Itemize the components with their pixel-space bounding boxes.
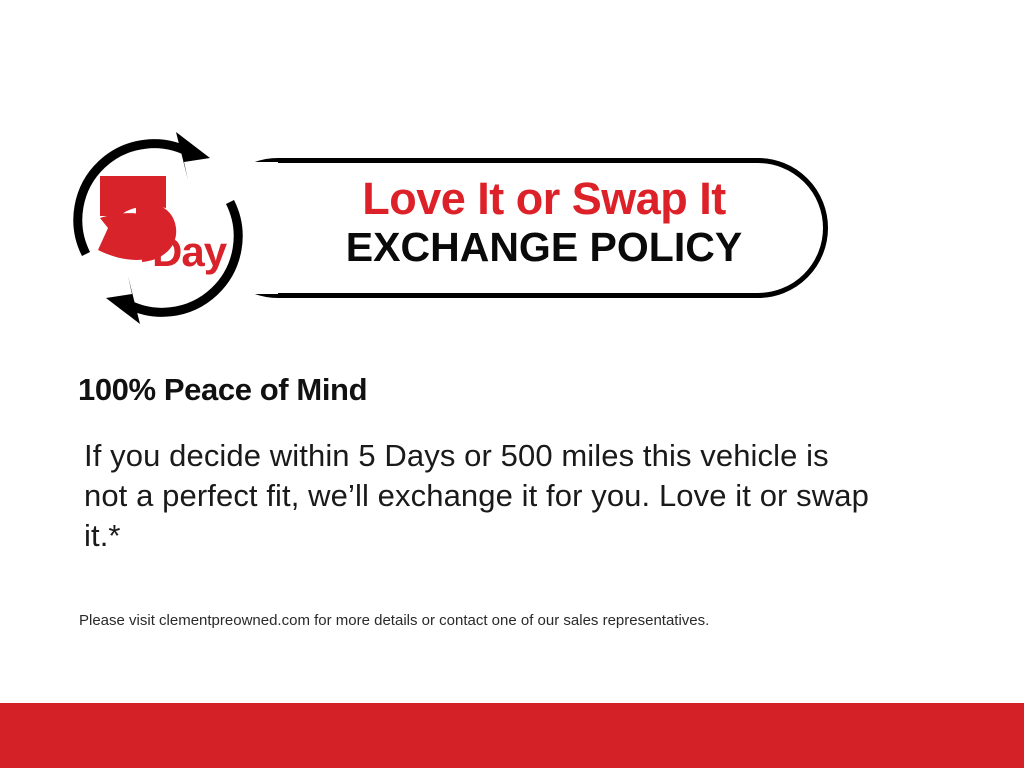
bottom-accent-bar	[0, 703, 1024, 768]
title-text-block: Love It or Swap It EXCHANGE POLICY	[264, 174, 824, 270]
peace-of-mind-heading: 100% Peace of Mind	[78, 371, 367, 409]
policy-subhead: EXCHANGE POLICY	[264, 224, 824, 270]
policy-headline: Love It or Swap It	[264, 174, 824, 224]
five-day-mark: Day	[84, 170, 234, 280]
policy-body-copy: If you decide within 5 Days or 500 miles…	[84, 436, 874, 556]
exchange-policy-badge-lockup: Day Love It or Swap It EXCHANGE POLICY	[64, 128, 844, 328]
svg-text:Day: Day	[152, 228, 228, 275]
fine-print-note: Please visit clementpreowned.com for mor…	[79, 610, 959, 632]
